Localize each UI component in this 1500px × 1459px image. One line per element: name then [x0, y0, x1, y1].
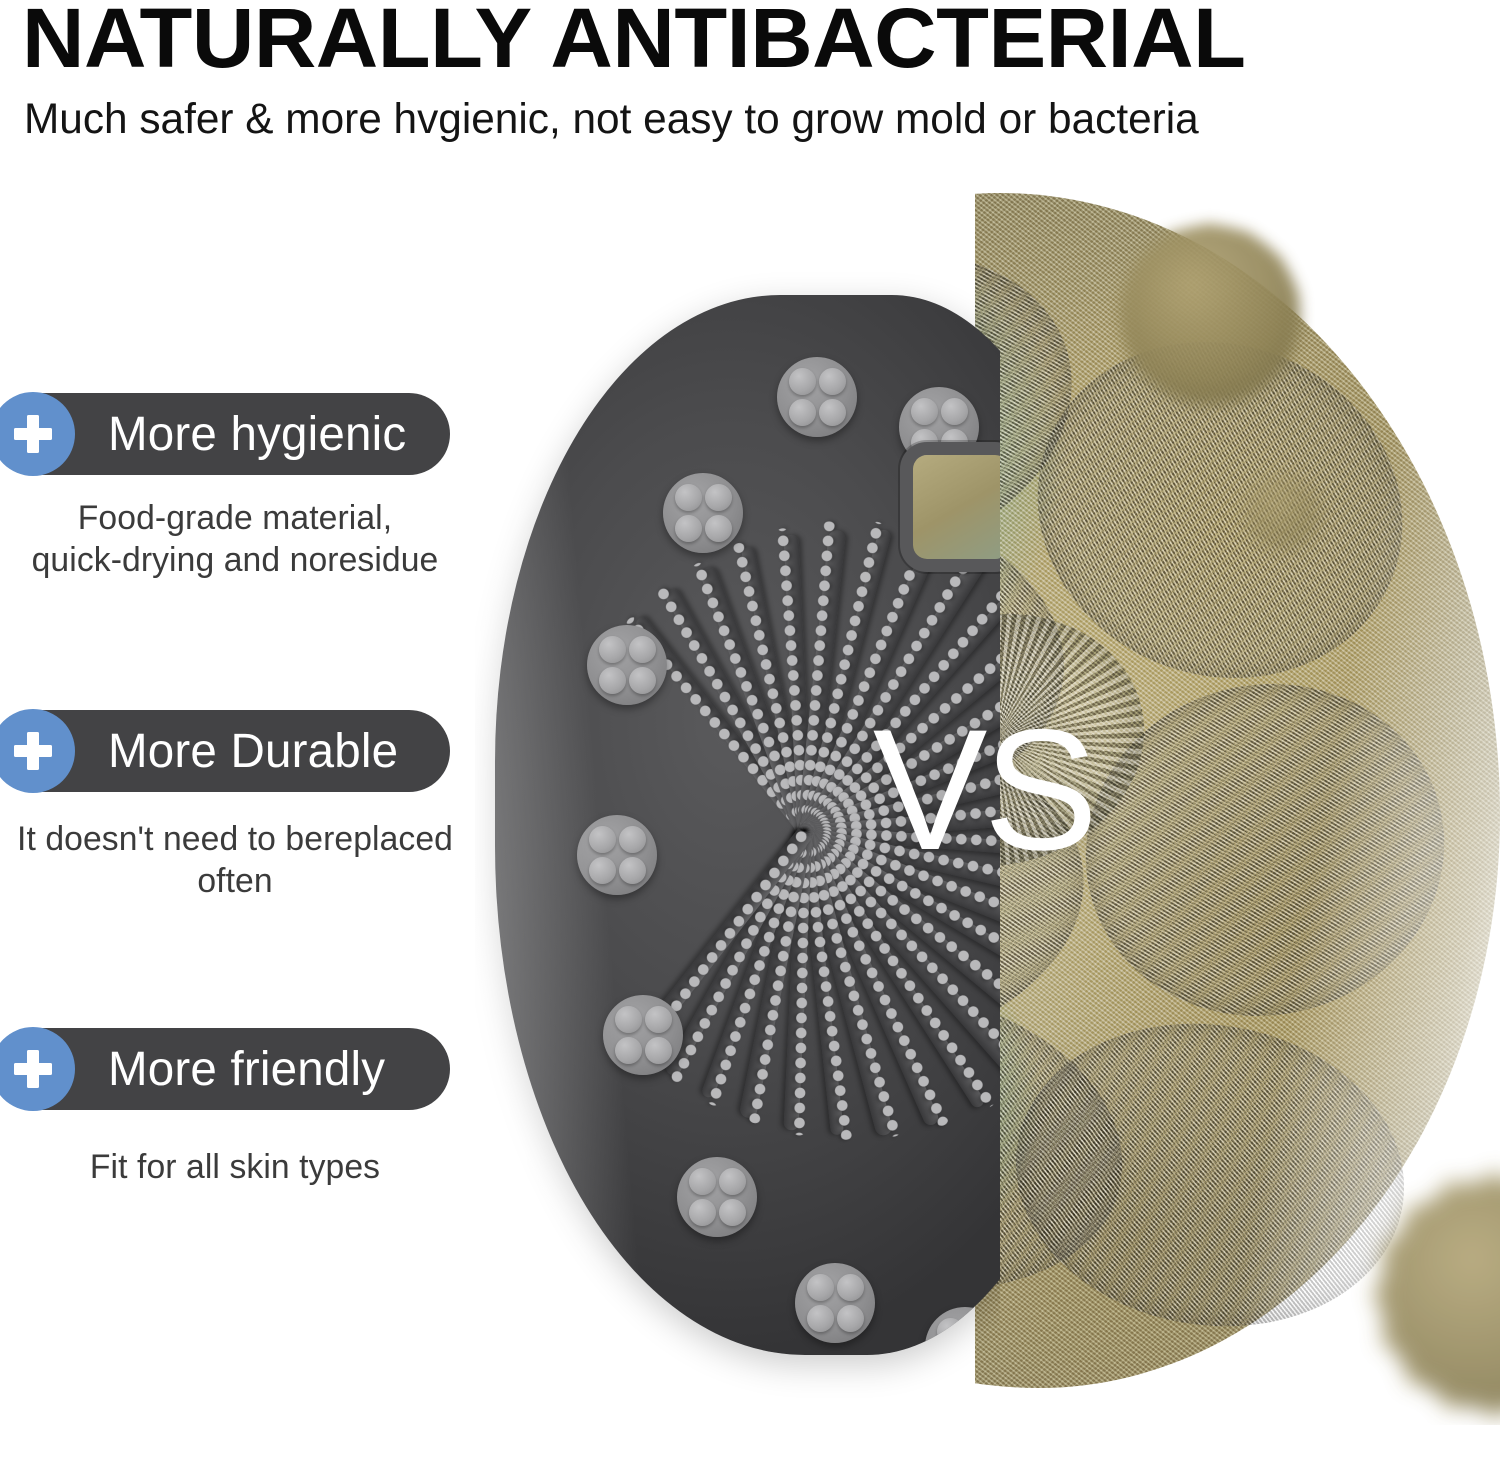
bacteria-particle-icon	[1330, 1130, 1500, 1425]
feature-pill: More friendly	[0, 1028, 450, 1110]
feature-pill: More Durable	[0, 710, 450, 792]
scrubber-nub-pad	[603, 995, 683, 1075]
bacteria-particle-icon	[1235, 465, 1330, 560]
scrubber-nub-pad	[795, 1263, 875, 1343]
scrubber-nub-pad	[777, 357, 857, 437]
feature-label: More Durable	[108, 724, 398, 779]
product-comparison-image: VS	[475, 165, 1500, 1425]
feature-label: More hygienic	[108, 407, 406, 462]
feature-label: More friendly	[108, 1042, 385, 1097]
hanging-hole	[913, 455, 1000, 559]
silicone-scrubber-photo	[475, 165, 1000, 1425]
scrubber-nub-pad	[587, 625, 667, 705]
scrubber-nub-pad	[677, 1157, 757, 1237]
feature-list: More hygienic Food-grade material, quick…	[0, 0, 470, 1459]
feature-description: It doesn't need to bereplaced often	[2, 818, 467, 902]
plus-icon	[0, 1027, 75, 1111]
feature-item-more-durable: More Durable It doesn't need to bereplac…	[0, 710, 470, 902]
feature-item-more-friendly: More friendly Fit for all skin types	[0, 1028, 470, 1188]
scrubber-nub-pad	[925, 1307, 1000, 1355]
plus-icon	[0, 709, 75, 793]
bacteria-particle-icon	[1085, 190, 1335, 440]
feature-description: Fit for all skin types	[2, 1146, 467, 1188]
scrubber-nub-pad	[663, 473, 743, 553]
feature-pill: More hygienic	[0, 393, 450, 475]
feature-description: Food-grade material, quick-drying and no…	[2, 497, 467, 581]
plus-icon	[0, 392, 75, 476]
scrubber-nub-pad	[577, 815, 657, 895]
feature-item-more-hygienic: More hygienic Food-grade material, quick…	[0, 393, 470, 581]
